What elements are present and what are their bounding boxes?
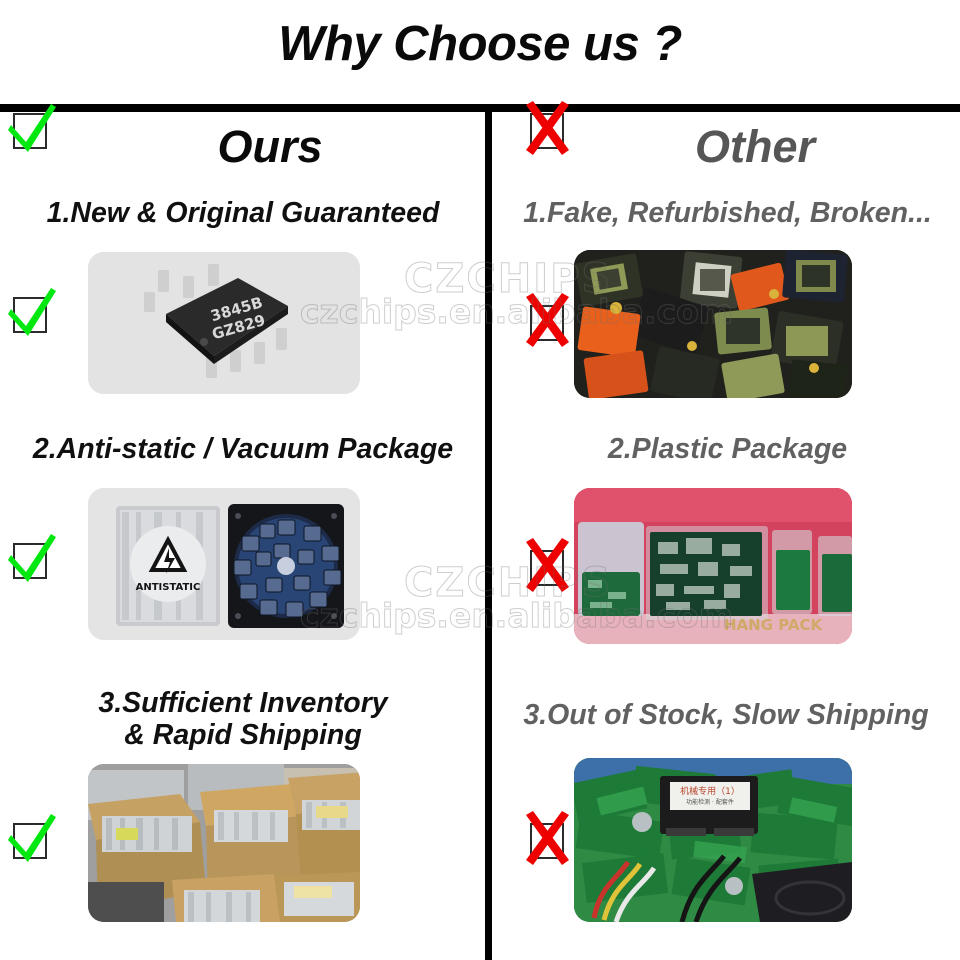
row-3-ours-image [88, 764, 360, 922]
check-glyph [2, 808, 62, 870]
header-divider-horizontal [0, 104, 960, 112]
page-title: Why Choose us ? [0, 12, 960, 76]
cross-glyph [519, 98, 579, 160]
cross-glyph [519, 290, 579, 352]
row-2-ours-label: 2.Anti-static / Vacuum Package [8, 434, 478, 466]
column-header-ours: Ours [60, 112, 480, 182]
row-3-ours-label-line2: & Rapid Shipping [124, 719, 361, 751]
row-3-other-image: 机械专用（1） 功能检测 · 配套件 [574, 758, 852, 922]
row-3-ours-label-line1: 3.Sufficient Inventory [98, 687, 387, 719]
row-1-ours-image: 3845B GZ829 [88, 252, 360, 394]
column-header-other: Other [560, 112, 950, 182]
check-mark-icon [6, 108, 52, 154]
hang-pack-overlay: HANG PACK [724, 616, 823, 634]
svg-text:功能检测 · 配套件: 功能检测 · 配套件 [686, 798, 734, 806]
check-mark-icon [6, 538, 52, 584]
column-divider-vertical [485, 112, 492, 960]
cross-glyph [519, 535, 579, 597]
check-glyph [2, 528, 62, 590]
check-mark-icon [6, 818, 52, 864]
row-2-other-image: HANG PACK [574, 488, 852, 644]
check-glyph [2, 98, 62, 160]
cross-mark-icon [523, 300, 569, 346]
antistatic-label: ANTISTATIC [136, 582, 201, 593]
row-1-other-label: 1.Fake, Refurbished, Broken... [495, 198, 960, 230]
cross-glyph [519, 808, 579, 870]
cross-mark-icon [523, 545, 569, 591]
row-2-other-label: 2.Plastic Package [495, 434, 960, 466]
row-2-ours-image: ANTISTATIC [88, 488, 360, 640]
cross-mark-icon [523, 818, 569, 864]
why-choose-us-comparison: Why Choose us ? Ours Other [0, 0, 960, 960]
row-1-other-image [574, 250, 852, 398]
check-glyph [2, 282, 62, 344]
svg-text:机械专用（1）: 机械专用（1） [680, 785, 740, 797]
cross-mark-icon [523, 108, 569, 154]
row-3-other-label: 3.Out of Stock, Slow Shipping [492, 700, 960, 732]
check-mark-icon [6, 292, 52, 338]
row-3-ours-label: 3.Sufficient Inventory & Rapid Shipping [8, 688, 478, 752]
row-1-ours-label: 1.New & Original Guaranteed [8, 198, 478, 230]
